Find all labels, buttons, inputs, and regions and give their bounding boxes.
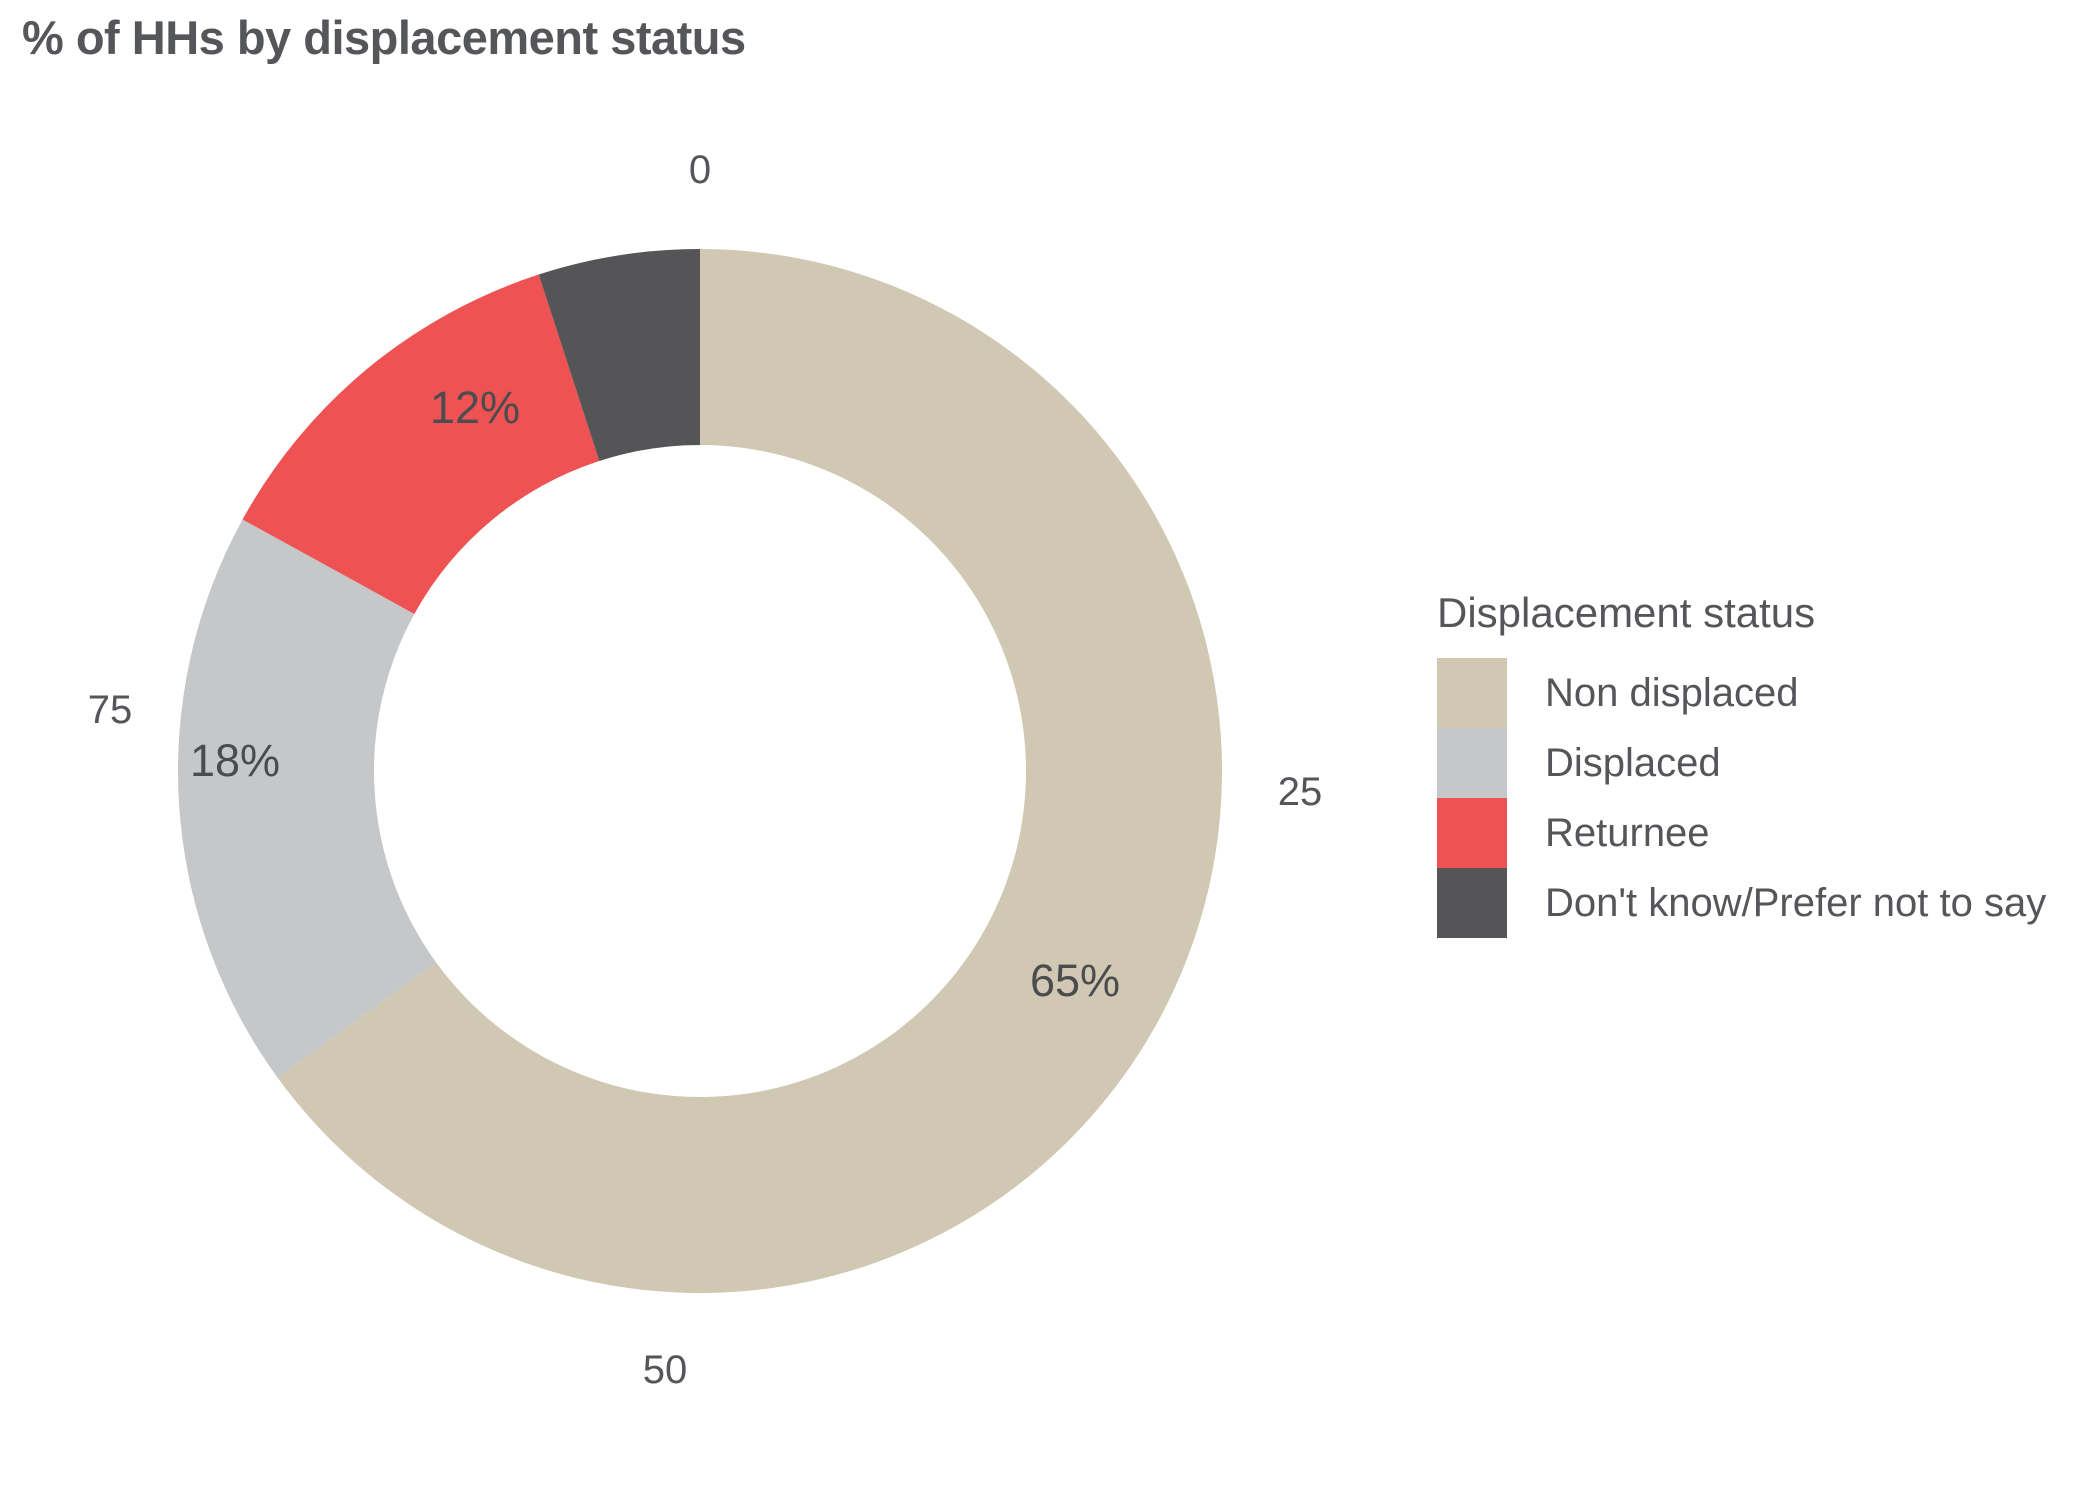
legend-item[interactable]: Don't know/Prefer not to say [1437, 868, 2077, 938]
axis-tick-0: 0 [640, 148, 760, 193]
legend-item[interactable]: Displaced [1437, 728, 2077, 798]
legend-swatch-icon [1437, 868, 1507, 938]
legend-item-label: Non displaced [1545, 673, 1799, 713]
legend-title: Displacement status [1437, 592, 2077, 634]
slice-label-returnee: 12% [355, 382, 595, 434]
legend-item-label: Don't know/Prefer not to say [1545, 883, 2046, 923]
axis-tick-50: 50 [605, 1348, 725, 1393]
legend-item[interactable]: Non displaced [1437, 658, 2077, 728]
legend: Displacement status Non displacedDisplac… [1437, 592, 2077, 938]
slice-label-non-displaced: 65% [955, 955, 1195, 1007]
legend-swatch-icon [1437, 658, 1507, 728]
legend-item-label: Displaced [1545, 743, 1721, 783]
legend-item-label: Returnee [1545, 813, 1710, 853]
legend-item[interactable]: Returnee [1437, 798, 2077, 868]
axis-tick-75: 75 [50, 688, 170, 733]
chart-canvas: % of HHs by displacement status 0 25 50 … [0, 0, 2100, 1500]
slice-label-displaced: 18% [115, 735, 355, 787]
donut-chart: 0 25 50 75 65% 18% 12% [0, 0, 1400, 1500]
axis-tick-25: 25 [1240, 770, 1360, 815]
legend-item-list: Non displacedDisplacedReturneeDon't know… [1437, 658, 2077, 938]
legend-swatch-icon [1437, 798, 1507, 868]
legend-swatch-icon [1437, 728, 1507, 798]
